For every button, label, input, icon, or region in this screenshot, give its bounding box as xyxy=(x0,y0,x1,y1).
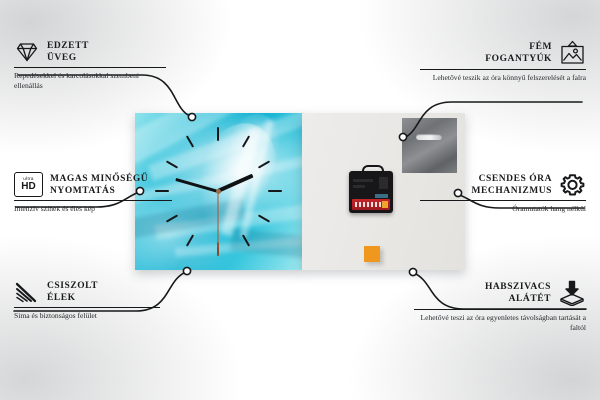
diamond-icon xyxy=(14,40,40,64)
feature-metal-handles[interactable]: FÉM FOGANTYÚK Lehetővé teszik az óra kön… xyxy=(420,40,586,83)
feature-header: EDZETT ÜVEG xyxy=(14,40,166,64)
tick-mark xyxy=(186,135,194,147)
feature-description: Sima és biztonságos felület xyxy=(14,311,160,321)
title-rule xyxy=(14,307,160,308)
clock-hub xyxy=(216,189,221,194)
feature-title: MAGAS MINŐSÉGŰ NYOMTATÁS xyxy=(50,173,148,197)
feature-description: Lehetővé teszi az óra egyenletes távolsá… xyxy=(414,313,586,333)
feature-description: Intenzív színek és éles kép xyxy=(14,204,172,214)
feature-foam-backing[interactable]: HABSZIVACS ALÁTÉT Lehetővé teszi az óra … xyxy=(414,280,586,333)
title-rule xyxy=(420,69,586,70)
feature-title: HABSZIVACS ALÁTÉT xyxy=(485,281,551,305)
feature-title: EDZETT ÜVEG xyxy=(47,40,89,64)
feature-tempered-glass[interactable]: EDZETT ÜVEG Repedésekkel és karcolásokka… xyxy=(14,40,166,91)
gear-icon xyxy=(559,172,586,197)
feature-description: Lehetővé teszik az óra könnyű felszerelé… xyxy=(420,73,586,83)
feature-header: HABSZIVACS ALÁTÉT xyxy=(414,280,586,306)
ultra-hd-big-label: HD xyxy=(21,182,35,192)
hanger-slot xyxy=(416,134,442,140)
feature-polished-edges[interactable]: CSISZOLT ÉLEK Sima és biztonságos felüle… xyxy=(14,280,160,321)
feature-header: CSISZOLT ÉLEK xyxy=(14,280,160,304)
title-rule xyxy=(414,309,586,310)
feature-title: FÉM FOGANTYÚK xyxy=(485,41,552,65)
tick-mark xyxy=(217,127,219,141)
feature-description: Repedésekkel és karcolásokkal szembeni e… xyxy=(14,71,166,91)
feature-description: Óramutatók hang nélkül xyxy=(420,204,586,214)
battery-label xyxy=(355,202,381,207)
feature-header: ultra HD MAGAS MINŐSÉGŰ NYOMTATÁS xyxy=(14,172,172,197)
picture-frame-icon xyxy=(559,40,586,66)
metal-hanger xyxy=(402,118,457,173)
product-image xyxy=(135,113,465,270)
clock-mechanism xyxy=(349,171,393,213)
title-rule xyxy=(420,200,586,201)
battery-plus-terminal xyxy=(382,201,388,208)
tick-mark xyxy=(268,190,282,192)
feature-header: FÉM FOGANTYÚK xyxy=(420,40,586,66)
title-rule xyxy=(14,200,172,201)
feature-silent-mechanism[interactable]: CSENDES ÓRA MECHANIZMUS Óramutatók hang … xyxy=(420,172,586,214)
foam-pad xyxy=(364,246,380,262)
tick-mark xyxy=(186,234,194,246)
feature-title: CSISZOLT ÉLEK xyxy=(47,280,98,304)
ultra-hd-icon: ultra HD xyxy=(14,172,43,197)
battery xyxy=(352,199,390,210)
press-down-pad-icon xyxy=(558,280,586,306)
feature-header: CSENDES ÓRA MECHANIZMUS xyxy=(420,172,586,197)
diagonal-lines-icon xyxy=(14,281,40,304)
title-rule xyxy=(14,67,166,68)
infographic-canvas: EDZETT ÜVEG Repedésekkel és karcolásokka… xyxy=(0,0,600,400)
second-hand xyxy=(218,192,219,248)
feature-high-quality-print[interactable]: ultra HD MAGAS MINŐSÉGŰ NYOMTATÁS Intenz… xyxy=(14,172,172,214)
mechanism-hook xyxy=(362,165,384,176)
feature-title: CSENDES ÓRA MECHANIZMUS xyxy=(472,173,552,197)
